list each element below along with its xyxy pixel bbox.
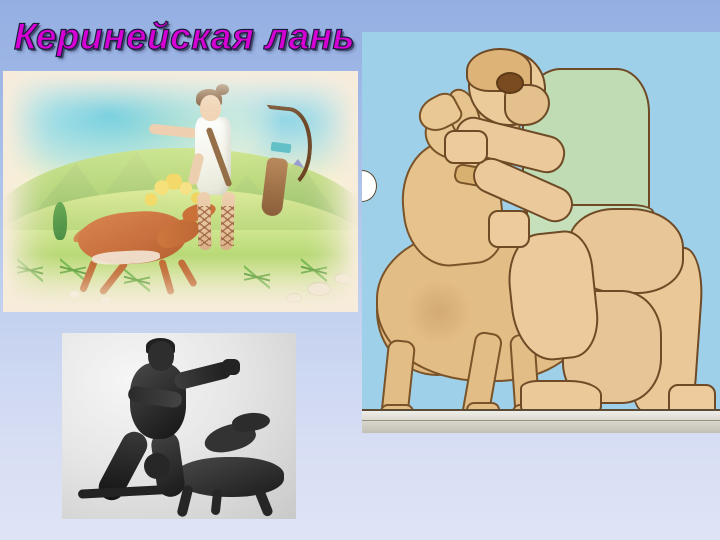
paper-vignette xyxy=(3,71,358,312)
image-artemis-watercolour xyxy=(3,71,358,312)
page-title: Керинейская лань xyxy=(14,16,355,58)
figure-hand xyxy=(444,130,488,164)
figure-hand xyxy=(488,210,530,248)
statue-figure-head xyxy=(148,341,174,371)
ledge-line xyxy=(362,420,720,421)
image-bronze-statue-photo xyxy=(62,333,296,519)
ground-ledge xyxy=(362,409,720,433)
image-heracles-vase-drawing xyxy=(362,32,720,433)
statue-figure-knee xyxy=(144,453,170,479)
figure-eye xyxy=(496,72,524,94)
statue-figure-fist xyxy=(222,359,240,375)
deer-shading xyxy=(402,282,476,342)
slide-canvas: Керинейская лань xyxy=(0,0,720,540)
